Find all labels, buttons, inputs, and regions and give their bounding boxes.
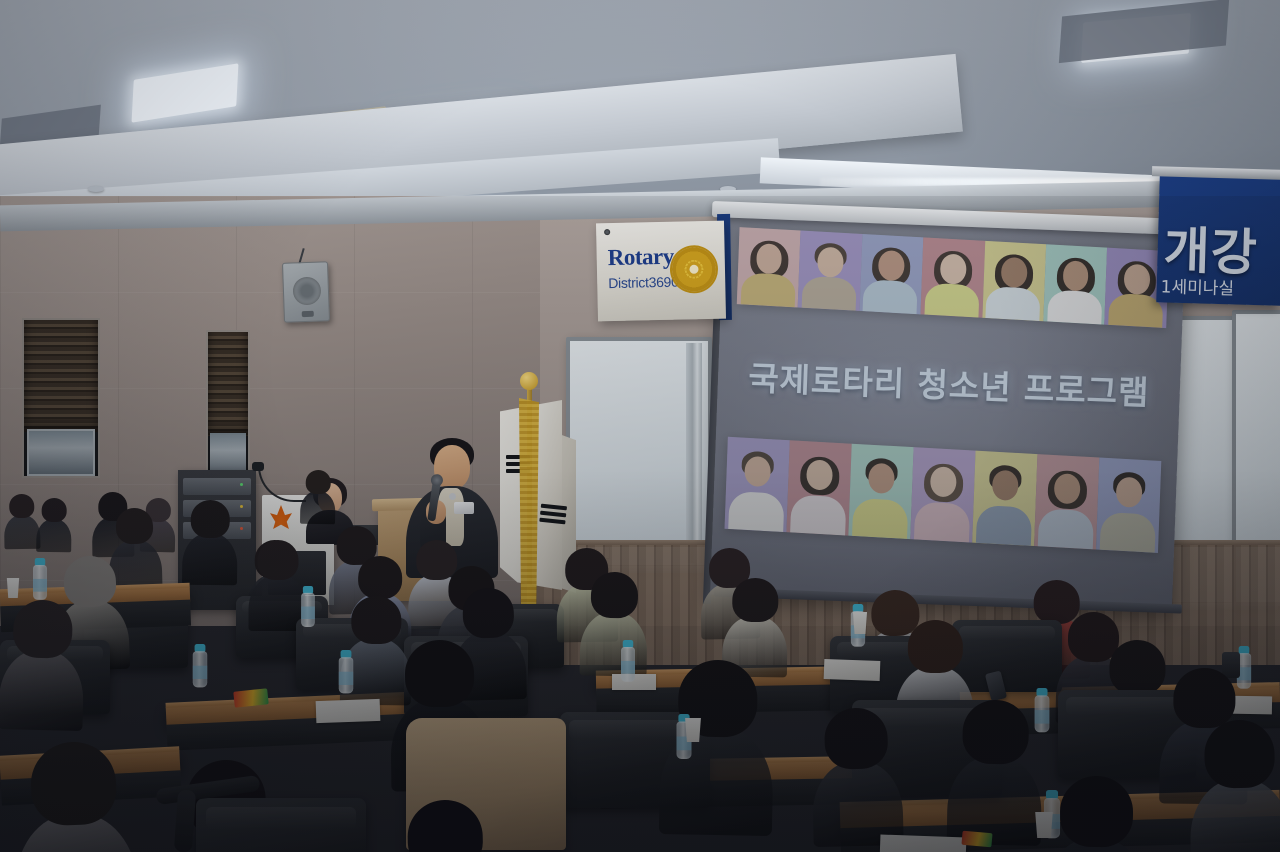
audience-hair	[190, 500, 229, 538]
slide-portrait-face	[1053, 474, 1080, 505]
window-frame	[27, 429, 95, 476]
audience-hair	[41, 498, 66, 522]
rack-status-led	[240, 483, 243, 486]
smoke-detector	[88, 186, 104, 192]
audience-member	[947, 699, 1044, 840]
slide-portrait-shirt	[728, 491, 784, 533]
audience-hair	[30, 741, 117, 827]
rack-status-led	[240, 527, 243, 530]
audience-torso	[181, 533, 237, 586]
ceiling-dark-tile	[1059, 0, 1229, 63]
bottle-label	[301, 607, 315, 620]
audience-hair	[407, 799, 483, 852]
rotary-banner: Rotary District3690	[596, 221, 726, 322]
flag-gold-fringe	[519, 398, 539, 613]
slide-portrait	[982, 241, 1046, 321]
podium-logo	[270, 505, 292, 529]
room-sign-sub-text: 1세미나실	[1160, 272, 1234, 299]
rack-unit	[183, 478, 251, 495]
audience-torso	[579, 611, 647, 676]
slide-portrait-shirt	[1099, 511, 1155, 553]
slide-portrait	[848, 444, 913, 540]
window-blinds[interactable]	[24, 320, 98, 432]
audience-hair	[358, 556, 402, 599]
slide-portrait-shirt	[976, 504, 1032, 546]
gooseneck-mic-capsule	[252, 462, 264, 471]
paper-cup	[852, 612, 868, 634]
bottle-label	[339, 672, 353, 685]
slide-portrait	[724, 437, 789, 533]
slide-title: 국제로타리 청소년 프로그램	[717, 350, 1180, 415]
slide-portrait-shirt	[914, 501, 970, 543]
slide-portrait-shirt	[790, 494, 846, 536]
slide-portrait-face	[1115, 477, 1142, 508]
audience-hair	[305, 470, 330, 494]
banner-grommet	[604, 229, 610, 235]
slide-portrait-shirt	[986, 286, 1041, 321]
slide-portrait-shirt	[924, 282, 979, 317]
audience-member	[391, 799, 501, 852]
bottle-label	[621, 661, 635, 674]
audience-torso	[0, 649, 84, 731]
audience-member	[36, 498, 72, 550]
audience-member	[810, 707, 903, 842]
snack-packet	[961, 831, 992, 848]
slide-portrait	[910, 447, 975, 543]
rack-status-led	[240, 505, 243, 508]
slide-portrait-face	[806, 460, 833, 491]
window-left	[22, 318, 100, 478]
paper-cup	[684, 718, 702, 742]
presenter-name-badge	[454, 502, 474, 514]
audience-hair	[351, 596, 402, 645]
whiteboard-center[interactable]: ■■■ ■■ ■■■	[566, 337, 712, 569]
audience-hair	[13, 599, 73, 658]
paper-cup	[1034, 812, 1054, 838]
slide-portrait-face	[868, 463, 895, 494]
bottle-label	[33, 579, 47, 592]
audience-hair	[824, 707, 888, 770]
slide-portrait-shirt	[741, 272, 796, 307]
audience-member	[1189, 719, 1280, 852]
handout-paper	[824, 659, 881, 681]
slide-portrait	[972, 451, 1037, 547]
slide-portrait-face	[929, 467, 956, 498]
slide-portrait	[737, 227, 801, 307]
handout-paper	[316, 699, 381, 723]
audience-member	[248, 540, 307, 628]
slide-portrait-shirt	[802, 276, 857, 311]
slide-portrait	[921, 238, 985, 318]
audience-hair	[462, 587, 514, 638]
audience-member	[300, 470, 336, 523]
window-blinds[interactable]	[208, 332, 248, 436]
slide-portrait-face	[817, 247, 844, 278]
audience-hair	[1109, 639, 1166, 695]
audience-hair	[962, 699, 1029, 764]
slide-portrait	[1034, 454, 1099, 550]
slide-portrait-face	[991, 470, 1018, 501]
seminar-room-photo: ■■■ ■■ ■■■ 국제로타리 청소년 프로그램 Rotary Distric…	[0, 0, 1280, 852]
audience-hair	[404, 640, 474, 708]
flag-finial	[520, 372, 538, 390]
audience-hair	[732, 578, 779, 623]
ceiling-light-panel	[132, 63, 239, 122]
rotary-wheel-logo	[672, 247, 717, 292]
slide-portrait	[859, 234, 923, 314]
slide-portrait-shirt	[1047, 289, 1102, 324]
presenter-lapel-pin	[449, 493, 456, 500]
projection-screen: 국제로타리 청소년 프로그램	[710, 210, 1186, 612]
audience-hair	[590, 572, 638, 619]
audience-member	[11, 740, 138, 852]
rotary-banner-word: Rotary	[607, 244, 674, 271]
slide-portrait-shirt	[863, 279, 918, 314]
handout-paper	[880, 835, 967, 852]
slide-portrait	[798, 231, 862, 311]
audience-torso	[947, 755, 1043, 846]
portrait-strip-top	[737, 227, 1169, 328]
bottle-label	[193, 666, 207, 679]
rotary-banner-subtitle: District3690	[608, 274, 679, 291]
audience-torso	[1190, 778, 1280, 852]
wall-mounted-pa-speaker	[282, 261, 330, 323]
whiteboard-slide-rail	[686, 343, 702, 563]
audience-torso	[299, 491, 335, 525]
audience-hair	[257, 540, 298, 580]
slide-portrait	[786, 440, 851, 536]
audience-member	[579, 571, 648, 672]
audience-hair	[9, 494, 34, 518]
audience-hair	[1060, 776, 1134, 848]
audience-hair	[1204, 720, 1275, 789]
audience-member	[182, 500, 238, 583]
audience-chair[interactable]	[196, 798, 366, 852]
flag-trigram-gam	[539, 504, 567, 528]
slide-portrait	[1043, 244, 1107, 324]
audience-hair	[908, 620, 964, 674]
audience-torso	[36, 519, 71, 552]
audience-member	[0, 599, 86, 726]
paper-cup	[6, 578, 20, 598]
window-right	[206, 330, 250, 478]
slide-portrait-shirt	[1038, 508, 1094, 550]
room-sign: 개강 1세미나실	[1156, 174, 1280, 305]
slide-portrait-face	[744, 456, 771, 487]
slide-portrait	[1096, 458, 1161, 554]
audience-hair	[115, 508, 153, 545]
portrait-strip-bottom	[724, 437, 1161, 554]
slide-portrait-shirt	[1108, 293, 1163, 328]
slide-portrait-shirt	[852, 497, 908, 539]
